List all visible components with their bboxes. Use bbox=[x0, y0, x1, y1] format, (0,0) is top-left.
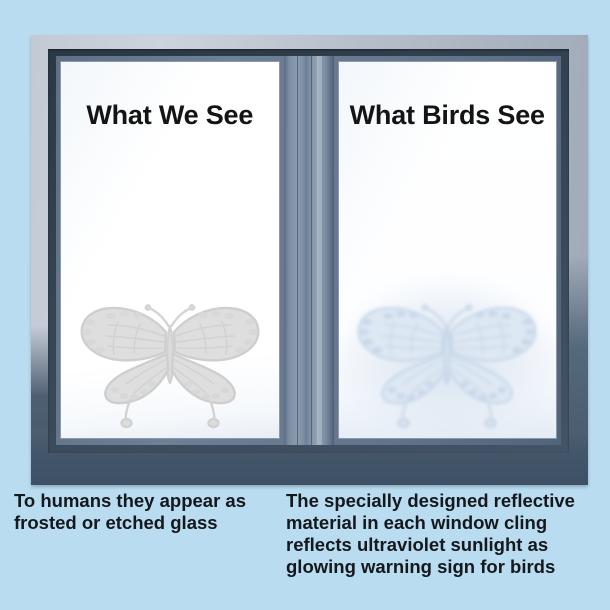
window-unit: What We See bbox=[31, 35, 588, 485]
caption-left: To humans they appear as frosted or etch… bbox=[14, 490, 276, 534]
caption-row: To humans they appear as frosted or etch… bbox=[0, 490, 610, 610]
infographic-canvas: What We See bbox=[0, 0, 610, 610]
mullion-seam bbox=[297, 56, 298, 445]
butterfly-cling-etched-icon bbox=[70, 280, 270, 430]
caption-left-text: To humans they appear as frosted or etch… bbox=[14, 490, 276, 534]
page-title-what-birds-see: What Birds See bbox=[339, 100, 557, 131]
window-pane-right: What Birds See bbox=[338, 61, 558, 439]
caption-right: The specially designed reflective materi… bbox=[286, 490, 604, 578]
mullion-seam bbox=[311, 56, 312, 445]
page-title-what-we-see: What We See bbox=[61, 100, 279, 131]
butterfly-cling-uv-glow-icon bbox=[347, 280, 547, 430]
window-sash: What We See bbox=[56, 56, 561, 445]
mullion-highlight bbox=[317, 56, 322, 445]
window-mullion bbox=[284, 56, 334, 445]
window-pane-left: What We See bbox=[60, 61, 280, 439]
caption-right-text: The specially designed reflective materi… bbox=[286, 490, 604, 578]
